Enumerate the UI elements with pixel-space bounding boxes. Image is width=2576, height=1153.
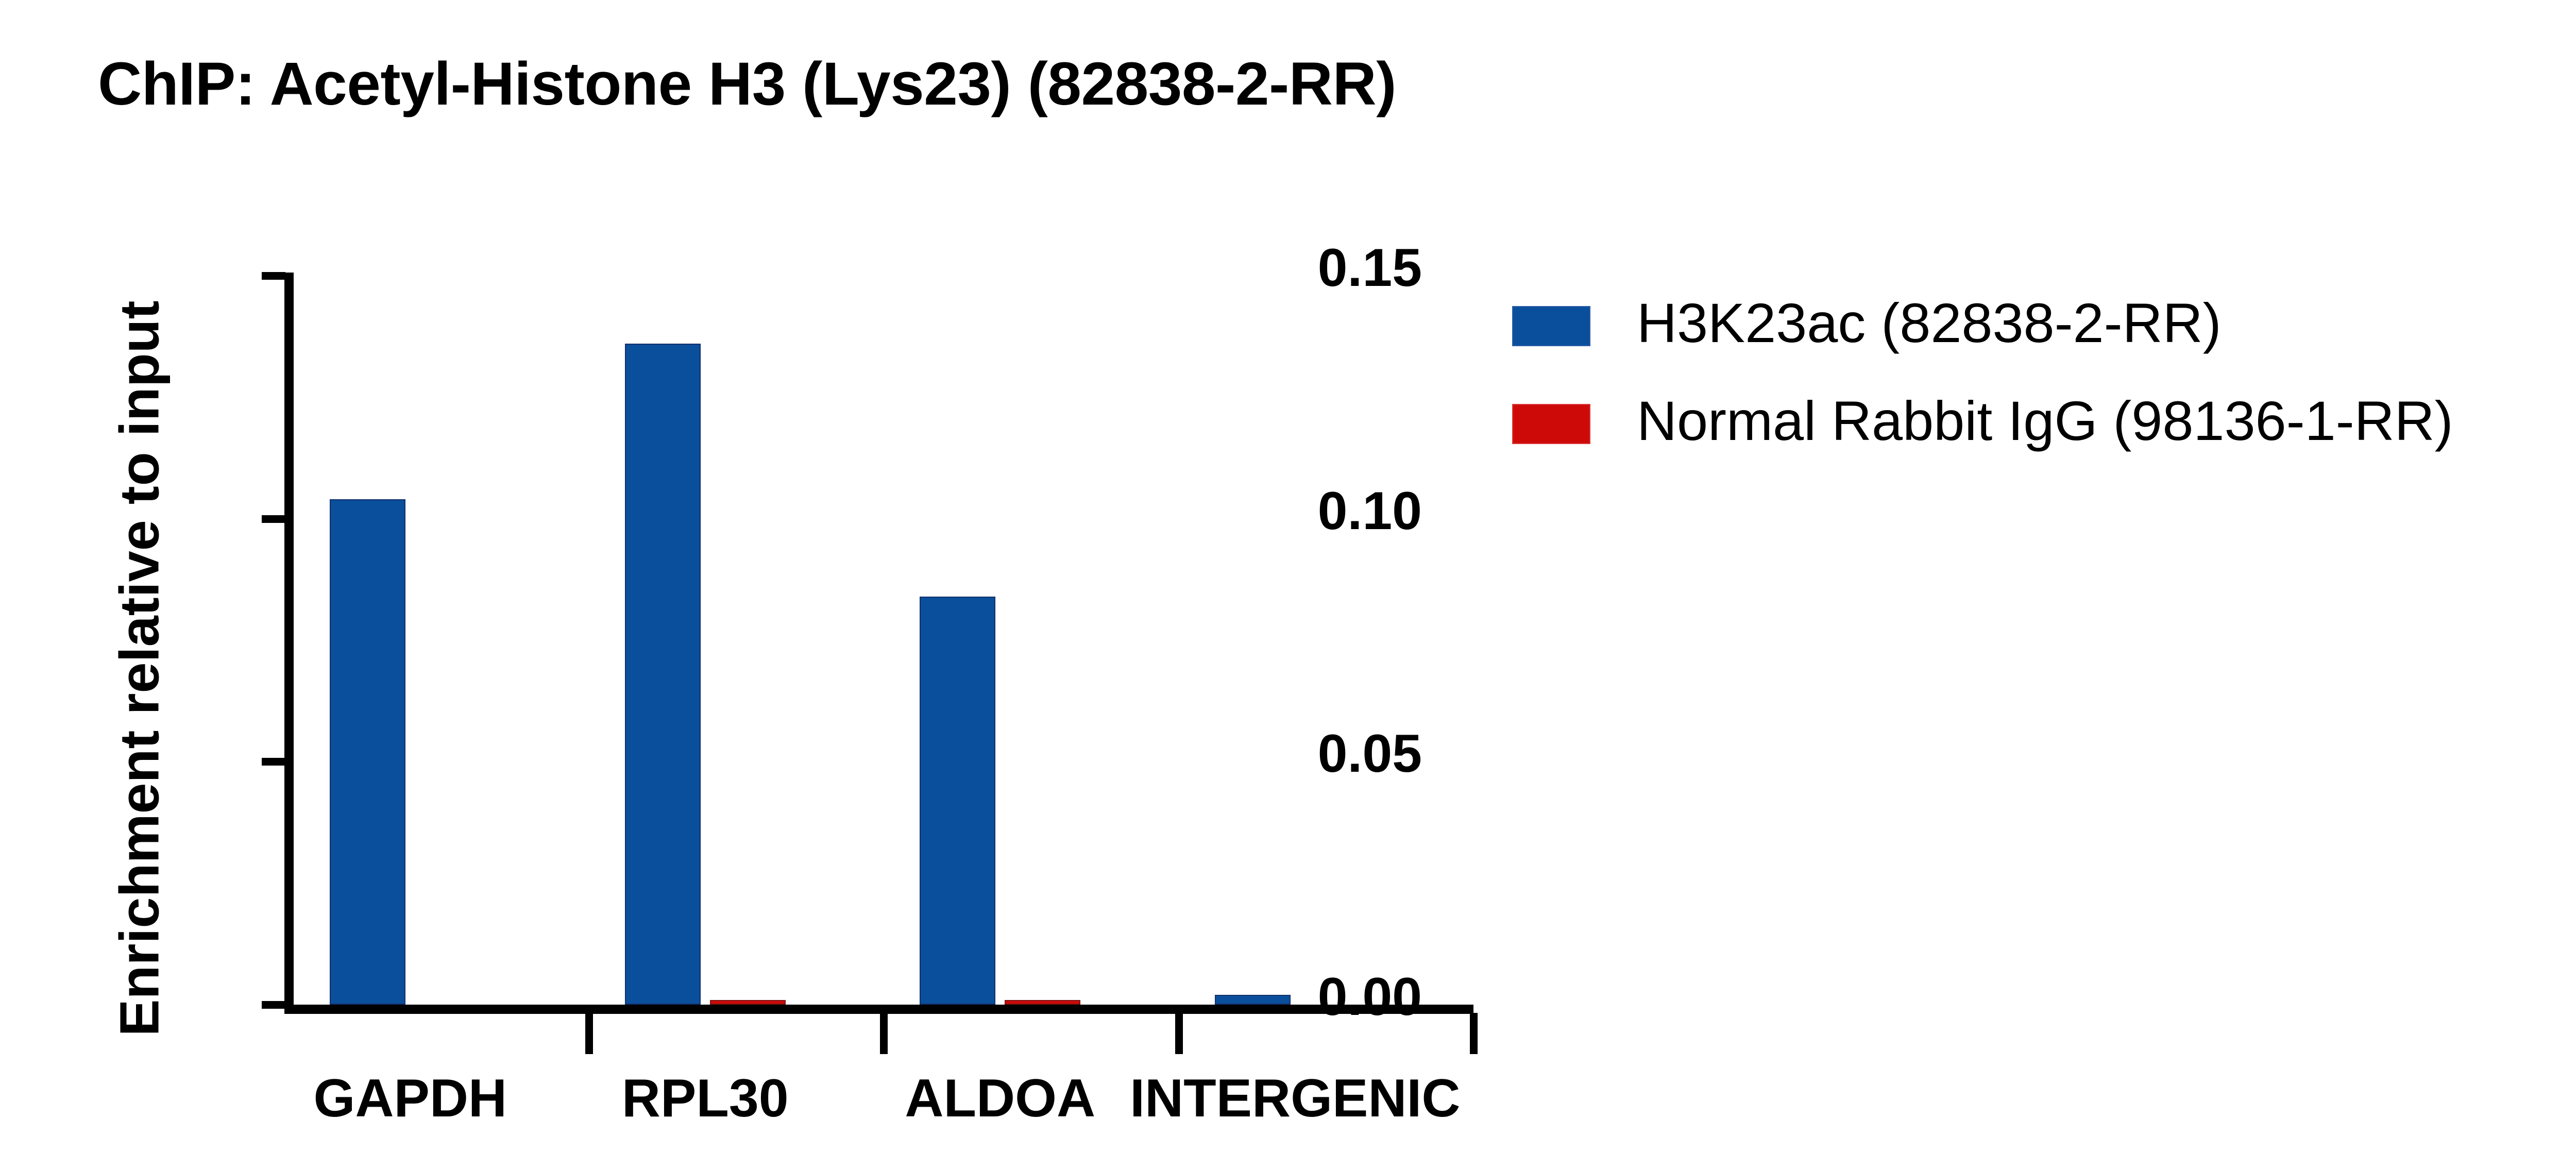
x-axis-category-label-intergenic: INTERGENIC: [1130, 1068, 1460, 1129]
bar-rpl30-series-0: [625, 344, 701, 1005]
legend-swatch-icon: [1512, 306, 1590, 346]
legend-item[interactable]: H3K23ac (82838-2-RR): [1512, 299, 2543, 397]
x-axis-tick-mark: [880, 1013, 888, 1054]
y-axis-tick-mark: [262, 1001, 285, 1009]
bar-rpl30-series-1: [710, 1000, 786, 1005]
y-axis-tick-mark: [262, 272, 285, 280]
chart-title: ChIP: Acetyl-Histone H3 (Lys23) (82838-2…: [0, 49, 1494, 119]
y-axis-tick-label: 0.10: [1113, 481, 1422, 542]
y-axis-tick-mark: [262, 758, 285, 766]
x-axis-tick-mark: [1175, 1013, 1183, 1054]
x-axis-category-label-aldoa: ALDOA: [905, 1068, 1095, 1129]
legend-label: H3K23ac (82838-2-RR): [1637, 291, 2222, 355]
y-axis-spine: [284, 273, 294, 1008]
y-axis-tick-mark: [262, 515, 285, 523]
x-axis-tick-mark: [1470, 1013, 1478, 1054]
chart-legend: H3K23ac (82838-2-RR)Normal Rabbit IgG (9…: [1512, 299, 2543, 495]
y-axis-tick-label: 0.05: [1113, 723, 1422, 785]
x-axis-category-label-rpl30: RPL30: [622, 1068, 789, 1129]
bar-intergenic-series-0: [1215, 995, 1291, 1005]
bar-aldoa-series-1: [1005, 1000, 1080, 1005]
bar-aldoa-series-0: [920, 597, 995, 1005]
y-axis-title: Enrichment relative to input: [107, 295, 172, 1042]
legend-swatch-icon: [1512, 404, 1590, 444]
x-axis-tick-mark: [585, 1013, 593, 1054]
legend-item[interactable]: Normal Rabbit IgG (98136-1-RR): [1512, 397, 2543, 495]
legend-label: Normal Rabbit IgG (98136-1-RR): [1637, 388, 2453, 453]
plot-area: 0.150.100.050.00 GAPDHRPL30ALDOAINTERGEN…: [294, 276, 1473, 1005]
chart-figure: ChIP: Acetyl-Histone H3 (Lys23) (82838-2…: [0, 0, 2576, 1153]
bar-gapdh-series-0: [330, 499, 405, 1005]
y-axis-tick-label: 0.15: [1113, 238, 1422, 299]
x-axis-category-label-gapdh: GAPDH: [313, 1068, 507, 1129]
